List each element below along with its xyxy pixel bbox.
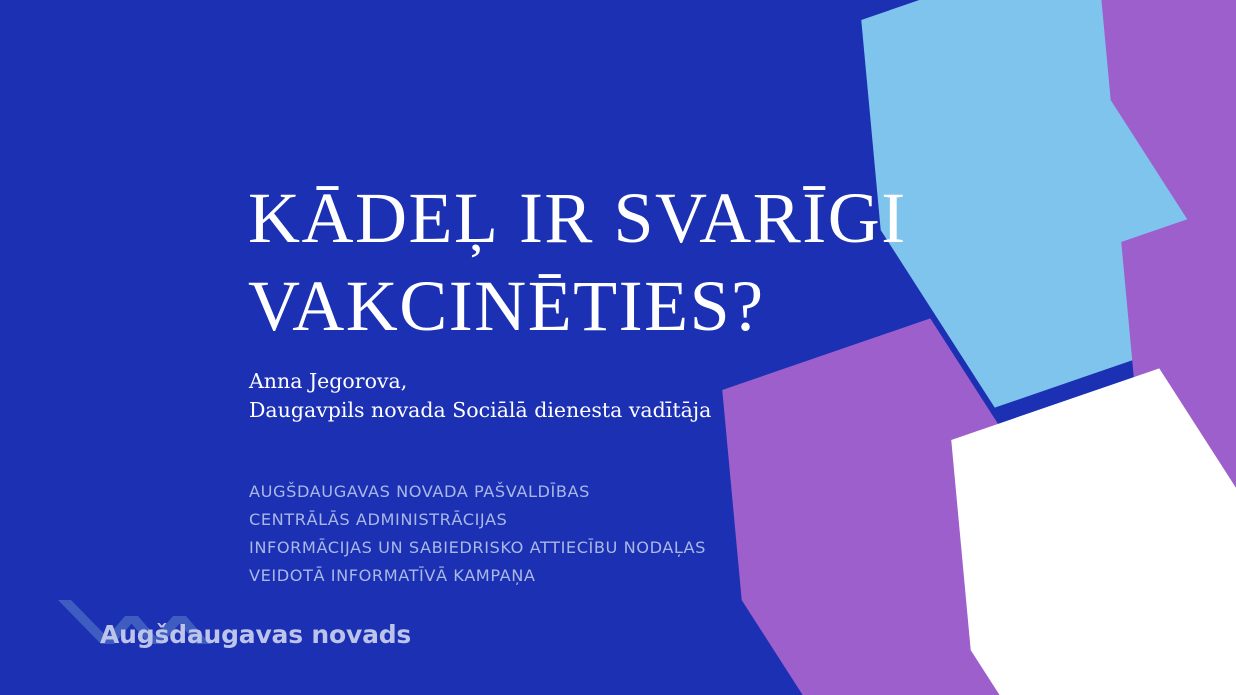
page-title: KĀDEĻ IR SVARĪGI VAKCINĒTIES?: [248, 175, 1008, 351]
organization-logo: Augšdaugavas novads: [58, 598, 388, 670]
campaign-line-1: AUGŠDAUGAVAS NOVADA PAŠVALDĪBAS: [249, 478, 949, 506]
author-byline: Anna Jegorova, Daugavpils novada Sociālā…: [249, 367, 869, 425]
presentation-slide: KĀDEĻ IR SVARĪGI VAKCINĒTIES? Anna Jegor…: [0, 0, 1236, 695]
campaign-line-4: VEIDOTĀ INFORMATĪVĀ KAMPAŅA: [249, 562, 949, 590]
campaign-line-2: CENTRĀLĀS ADMINISTRĀCIJAS: [249, 506, 949, 534]
campaign-credit: AUGŠDAUGAVAS NOVADA PAŠVALDĪBAS CENTRĀLĀ…: [249, 478, 949, 589]
slide-content: KĀDEĻ IR SVARĪGI VAKCINĒTIES? Anna Jegor…: [0, 0, 1236, 695]
logo-wordmark: Augšdaugavas novads: [100, 620, 411, 649]
campaign-line-3: INFORMĀCIJAS UN SABIEDRISKO ATTIECĪBU NO…: [249, 534, 949, 562]
